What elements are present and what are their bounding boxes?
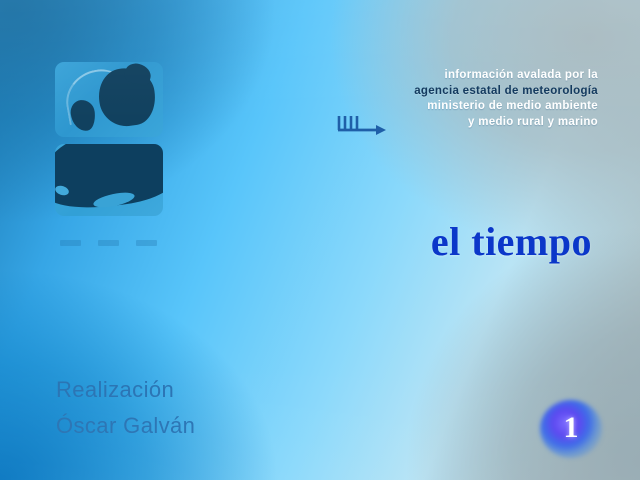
credits-block: Realización Óscar Galván <box>56 372 195 444</box>
logo-dash-3-icon <box>136 240 157 246</box>
program-wordmark: el tiempo <box>431 218 592 265</box>
logo-panel-globe <box>55 62 163 137</box>
logo-dash-1-icon <box>60 240 81 246</box>
agency-credit-block: información avalada por la agencia estat… <box>268 68 598 130</box>
agency-credit-line-1: información avalada por la <box>268 68 598 84</box>
credit-person-name: Óscar Galván <box>56 408 195 444</box>
credit-role: Realización <box>56 372 195 408</box>
channel-logo-badge: 1 <box>540 400 602 458</box>
broadcast-end-card: información avalada por la agencia estat… <box>0 0 640 480</box>
agency-credit-line-3: ministerio de medio ambiente <box>268 99 598 115</box>
aemet-logo <box>55 62 165 216</box>
logo-dash-2-icon <box>98 240 119 246</box>
logo-panel-swoosh <box>55 144 163 216</box>
agency-credit-line-4: y medio rural y marino <box>268 115 598 131</box>
channel-number: 1 <box>540 400 602 458</box>
agency-credit-line-2: agencia estatal de meteorología <box>268 84 598 100</box>
logo-dash-row <box>60 240 157 246</box>
